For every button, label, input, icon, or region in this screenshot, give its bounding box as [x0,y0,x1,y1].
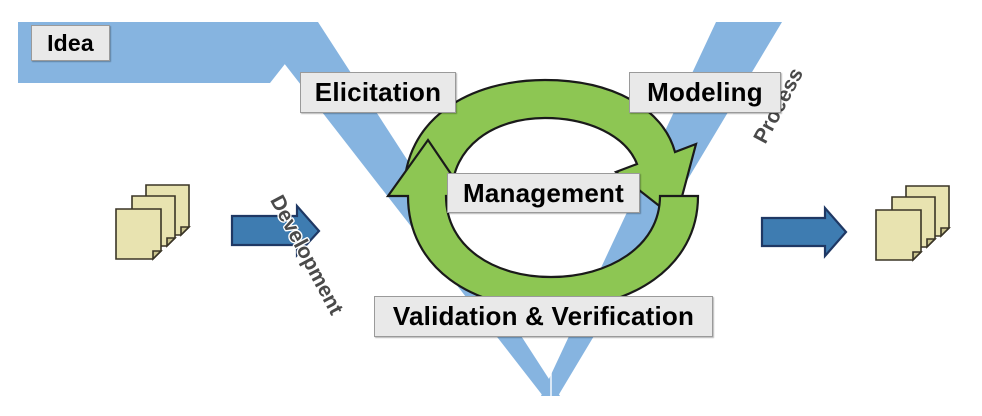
label-box-modeling[interactable]: Modeling [629,72,781,113]
document-stack-output [876,186,949,260]
document-stack-input [116,185,189,259]
label-box-management[interactable]: Management [447,173,640,213]
flow-arrow-output [762,208,846,256]
label-box-elicitation[interactable]: Elicitation [300,72,456,113]
diagram-canvas: Development Process Idea Elicitation Mod… [0,0,982,416]
label-box-validation-verification[interactable]: Validation & Verification [374,296,713,337]
label-box-idea[interactable]: Idea [31,25,110,61]
